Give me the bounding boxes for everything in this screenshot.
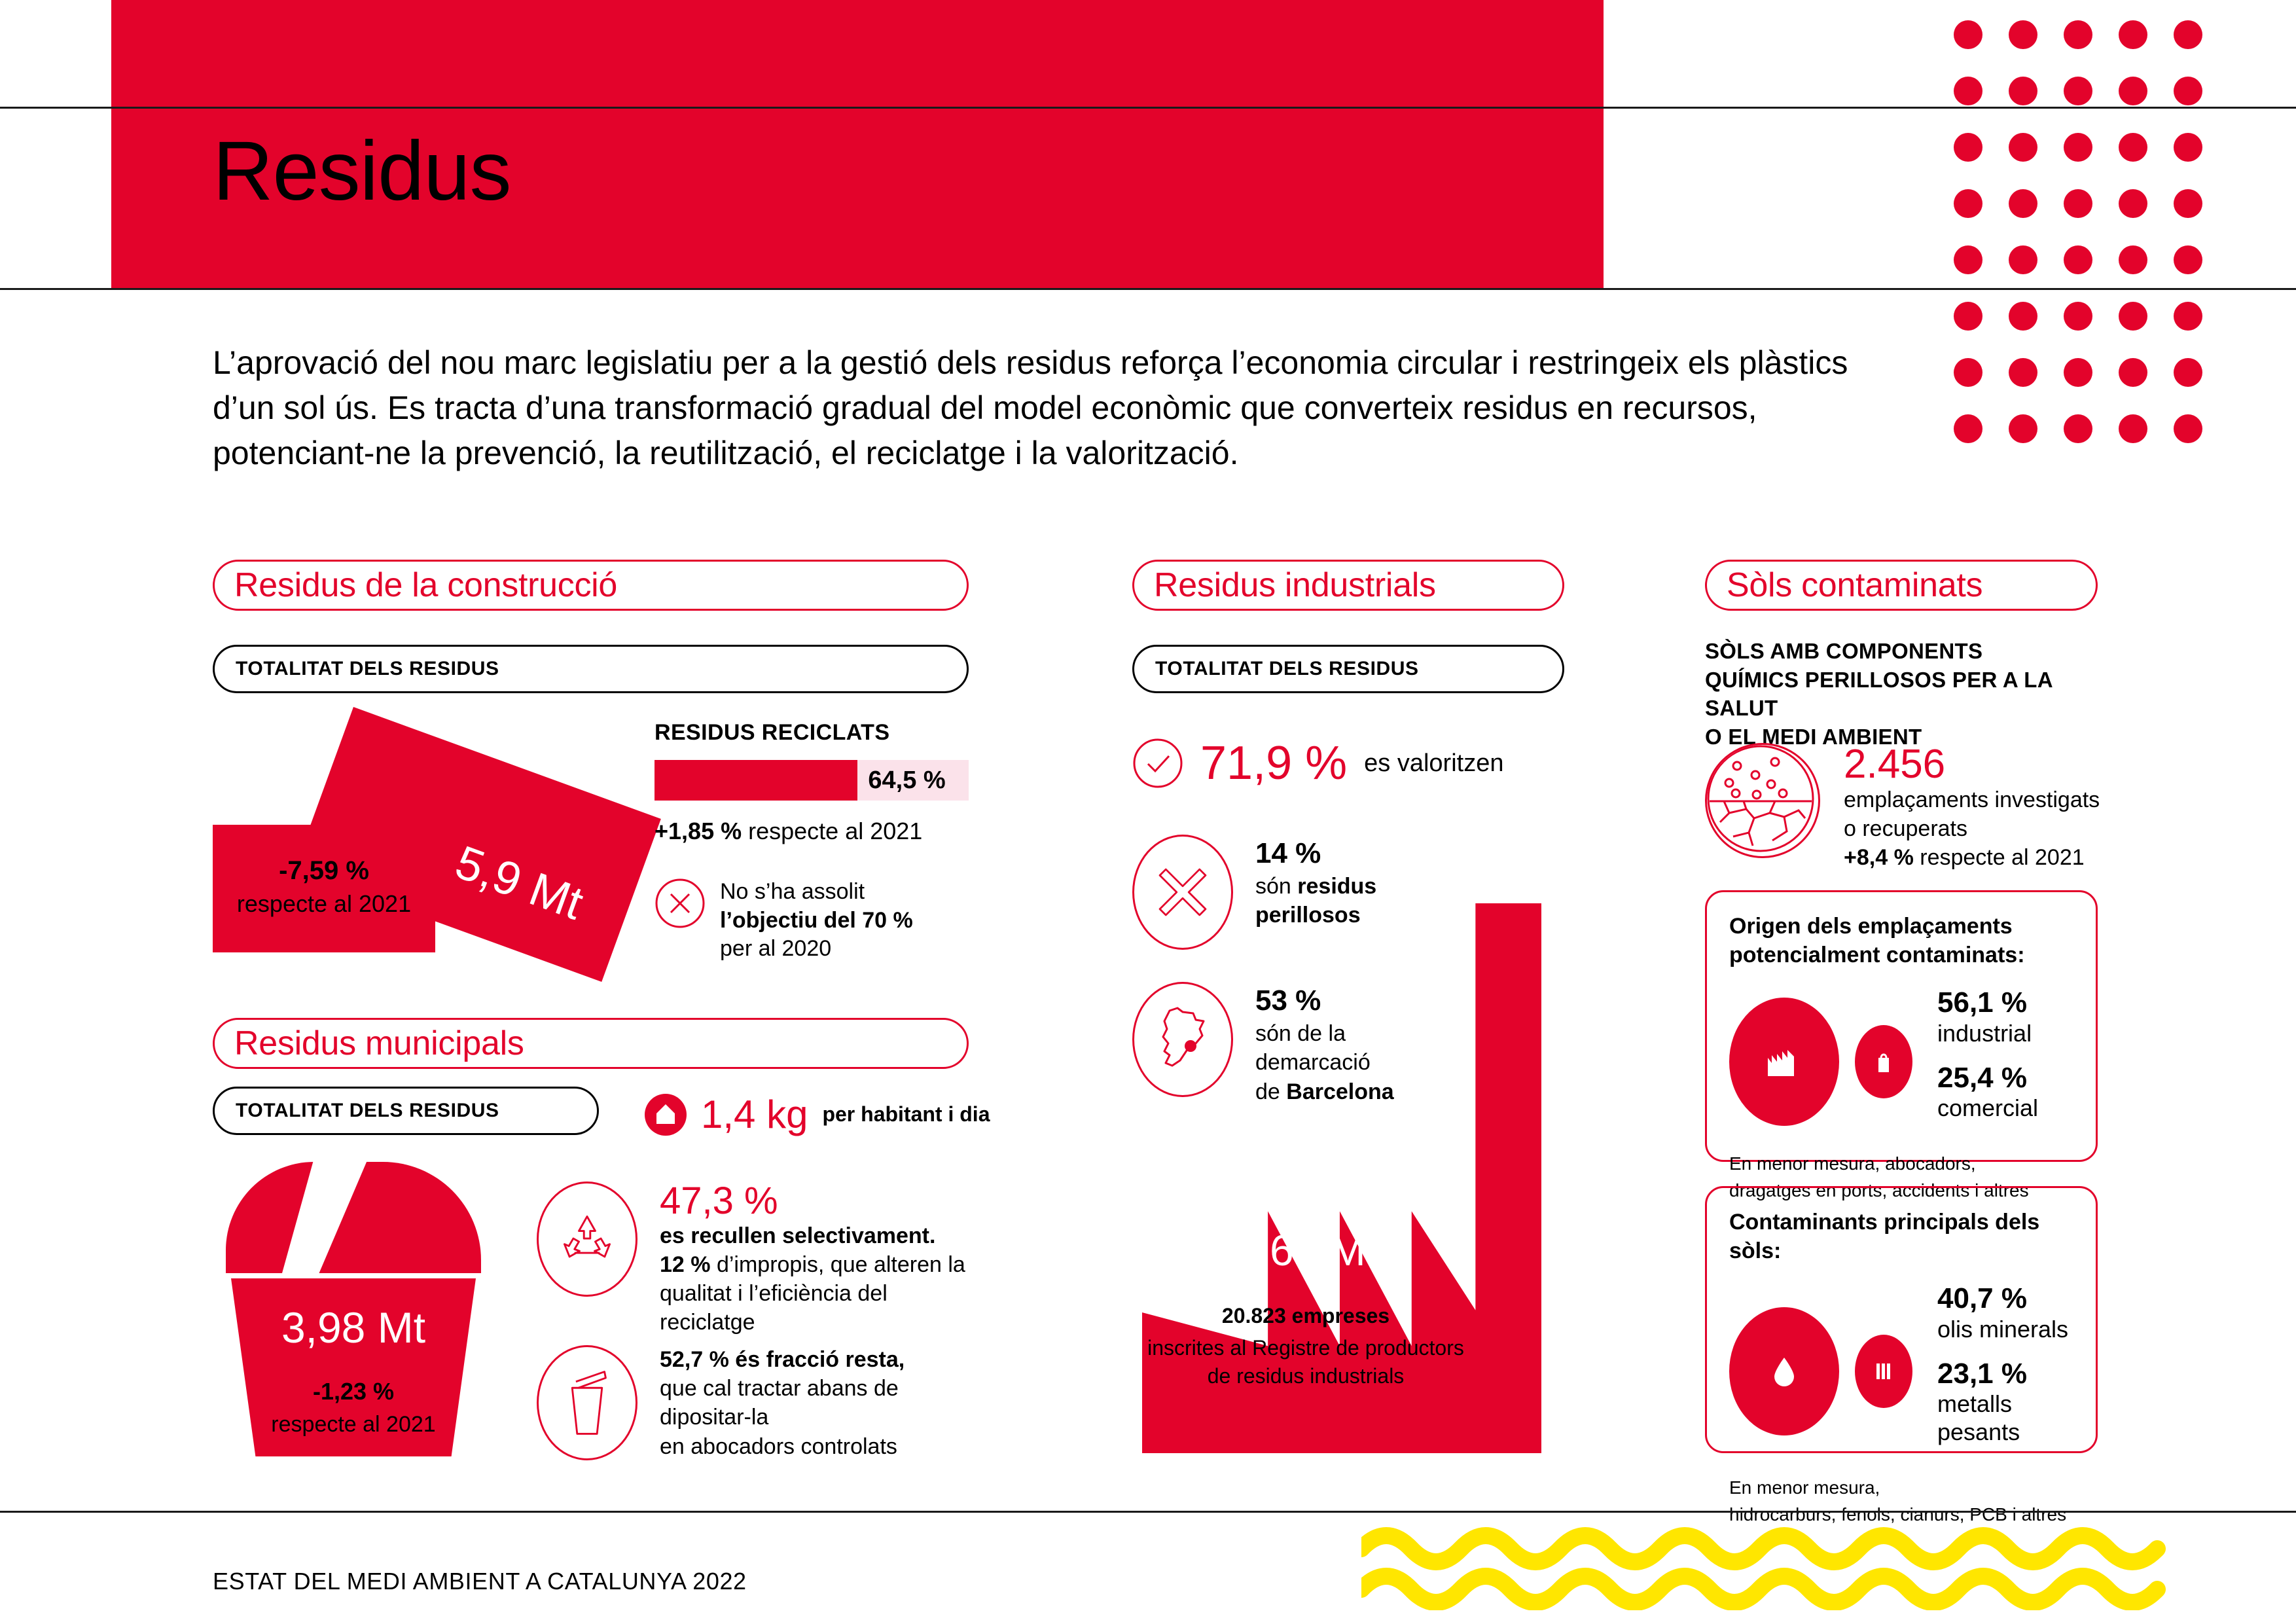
trash-glyph bbox=[556, 1367, 619, 1439]
sites-line-2: emplaçaments investigats bbox=[1844, 785, 2100, 814]
metal-bars-bubble-icon bbox=[1855, 1335, 1912, 1408]
grid-dot bbox=[2009, 245, 2037, 274]
recycled-bar-value: 64,5 % bbox=[868, 760, 945, 801]
impropis-rest: d’impropis, que alteren la bbox=[711, 1252, 965, 1277]
sites-delta-ref: respecte al 2021 bbox=[1914, 845, 2085, 870]
hazard-line2-bold: residus bbox=[1297, 874, 1376, 899]
section-header-industrial: Residus industrials bbox=[1132, 560, 1564, 611]
intro-paragraph: L’aprovació del nou marc legislatiu per … bbox=[213, 340, 1895, 476]
grid-dot bbox=[2064, 20, 2092, 49]
sites-line-3: o recuperats bbox=[1844, 814, 2100, 843]
soils-sites-text: 2.456 emplaçaments investigats o recuper… bbox=[1844, 743, 2100, 873]
grid-dot bbox=[2174, 302, 2202, 331]
trash-bin-icon bbox=[537, 1345, 637, 1460]
companies-line-2: inscrites al Registre de productors bbox=[1147, 1336, 1464, 1360]
grid-dot bbox=[2064, 302, 2092, 331]
recycled-delta-value: +1,85 % bbox=[655, 818, 742, 844]
grid-dot bbox=[2064, 77, 2092, 105]
factory-bubble-icon bbox=[1729, 998, 1839, 1126]
industrial-factory-graphic: 3,67 Mt 20.823 empreses inscrites al Reg… bbox=[1142, 903, 1541, 1453]
grid-dot bbox=[2064, 414, 2092, 443]
recycled-delta-ref: respecte al 2021 bbox=[742, 818, 922, 844]
rest-bold: 52,7 % és fracció resta, bbox=[660, 1347, 905, 1372]
grid-dot bbox=[2009, 189, 2037, 218]
footer-rule bbox=[0, 1511, 2296, 1513]
grid-dot bbox=[2064, 133, 2092, 162]
goal-line-1: No s’ha assolit bbox=[720, 878, 913, 907]
card-origin-values: 56,1 % industrial 25,4 % comercial bbox=[1937, 986, 2038, 1136]
companies-count: 20.823 empreses bbox=[1142, 1304, 1469, 1328]
footer-text: ESTAT DEL MEDI AMBIENT A CATALUNYA 2022 bbox=[213, 1568, 747, 1595]
metal-bars-icon bbox=[1873, 1361, 1894, 1382]
grid-dot bbox=[1954, 20, 1982, 49]
hazard-pct: 14 % bbox=[1255, 835, 1376, 872]
section-industrial: Residus industrials TOTALITAT DELS RESID… bbox=[1132, 560, 1564, 693]
card-contaminants-title: Contaminants principals dels sòls: bbox=[1729, 1208, 2073, 1265]
grid-dot bbox=[2009, 20, 2037, 49]
construction-delta-shape: -7,59 % respecte al 2021 bbox=[213, 825, 435, 952]
grid-dot bbox=[1954, 358, 1982, 387]
construction-total-value: 5,9 Mt bbox=[448, 835, 590, 930]
recycled-bar-track: 64,5 % bbox=[655, 760, 969, 801]
rest-line-3: en abocadors controlats bbox=[660, 1432, 969, 1461]
construction-total-graphic: 5,9 Mt -7,59 % respecte al 2021 bbox=[213, 710, 684, 946]
contaminant-unit-2: metalls pesants bbox=[1937, 1390, 2073, 1446]
grid-dot bbox=[1954, 77, 1982, 105]
section-municipal: Residus municipals bbox=[213, 1018, 969, 1069]
origin-value-2: 25,4 % bbox=[1937, 1062, 2038, 1094]
origin-value-1: 56,1 % bbox=[1937, 986, 2038, 1019]
selective-pct: 47,3 % bbox=[660, 1182, 969, 1221]
grid-dot bbox=[1954, 302, 1982, 331]
page-title: Residus bbox=[213, 128, 1260, 215]
wave-line-bottom bbox=[1361, 1576, 2157, 1602]
decorative-yellow-waves bbox=[1361, 1525, 2173, 1610]
municipal-total-value: 3,98 Mt bbox=[226, 1303, 481, 1352]
recycle-glyph bbox=[556, 1208, 619, 1271]
contaminant-unit-1: olis minerals bbox=[1937, 1315, 2073, 1343]
grid-dot bbox=[1954, 245, 1982, 274]
grid-dot bbox=[2119, 77, 2147, 105]
grid-dot bbox=[2009, 302, 2037, 331]
goal-line-3: per al 2020 bbox=[720, 935, 913, 964]
section-construction: Residus de la construcció TOTALITAT DELS… bbox=[213, 560, 969, 693]
card-main-contaminants: Contaminants principals dels sòls: 40,7 … bbox=[1705, 1186, 2098, 1453]
wave-line-top bbox=[1361, 1536, 2157, 1562]
soils-caption-line-1: SÒLS AMB COMPONENTS bbox=[1705, 637, 2098, 666]
grid-dot bbox=[1954, 189, 1982, 218]
rest-text: 52,7 % és fracció resta, que cal tractar… bbox=[660, 1345, 969, 1461]
label-total-waste-municipal: TOTALITAT DELS RESIDUS bbox=[213, 1087, 599, 1135]
municipal-delta-value: -1,23 % bbox=[226, 1378, 481, 1405]
label-total-waste-industrial: TOTALITAT DELS RESIDUS bbox=[1132, 645, 1564, 693]
contaminants-note-line-1: En menor mesura, bbox=[1729, 1475, 2073, 1502]
municipal-rest-fraction: 52,7 % és fracció resta, que cal tractar… bbox=[537, 1345, 969, 1461]
card-origin-row: 56,1 % industrial 25,4 % comercial bbox=[1729, 986, 2073, 1136]
goal-not-achieved: No s’ha assolit l’objectiu del 70 % per … bbox=[655, 878, 969, 964]
grid-dot bbox=[2119, 133, 2147, 162]
grid-dot bbox=[1954, 133, 1982, 162]
grid-dot bbox=[2009, 414, 2037, 443]
selective-bold: es recullen selectivament. bbox=[660, 1223, 935, 1248]
card-contaminants-row: 40,7 % olis minerals 23,1 % metalls pesa… bbox=[1729, 1282, 2073, 1460]
recycle-icon bbox=[537, 1182, 637, 1297]
card-origin-title: Origen dels emplaçaments potencialment c… bbox=[1729, 912, 2073, 969]
sites-number: 2.456 bbox=[1844, 743, 2100, 785]
soils-caption: SÒLS AMB COMPONENTS QUÍMICS PERILLOSOS P… bbox=[1705, 637, 2098, 751]
grid-dot bbox=[2174, 20, 2202, 49]
soils-sites-block: 2.456 emplaçaments investigats o recuper… bbox=[1705, 743, 2100, 873]
grid-dot bbox=[2119, 189, 2147, 218]
grid-dot bbox=[2119, 414, 2147, 443]
grid-dot bbox=[2064, 358, 2092, 387]
card-origin-contaminated-sites: Origen dels emplaçaments potencialment c… bbox=[1705, 890, 2098, 1162]
construction-delta-value: -7,59 % bbox=[213, 856, 435, 886]
grid-dot bbox=[2009, 133, 2037, 162]
card-contaminants-note: En menor mesura, hidrocarburs, fenols, c… bbox=[1729, 1475, 2073, 1528]
home-icon bbox=[645, 1094, 687, 1136]
header-rule-top bbox=[0, 107, 2296, 109]
card-contaminants-values: 40,7 % olis minerals 23,1 % metalls pesa… bbox=[1937, 1282, 2073, 1460]
section-header-municipal: Residus municipals bbox=[213, 1018, 969, 1069]
impropis-pct: 12 % bbox=[660, 1252, 711, 1277]
companies-desc: inscrites al Registre de productors de r… bbox=[1142, 1334, 1469, 1390]
grid-dot bbox=[2119, 245, 2147, 274]
cracked-soil-glyph bbox=[1707, 745, 1814, 852]
header-rule-bottom bbox=[0, 288, 2296, 290]
oil-drop-bubble-icon bbox=[1729, 1307, 1839, 1435]
grid-dot bbox=[2174, 358, 2202, 387]
grid-dot bbox=[1954, 414, 1982, 443]
industrial-valorised: 71,9 % es valoritzen bbox=[1132, 736, 1503, 790]
selective-text: 47,3 % es recullen selectivament. 12 % d… bbox=[660, 1182, 969, 1337]
grid-dot bbox=[2174, 77, 2202, 105]
rest-line-2: que cal tractar abans de dipositar-la bbox=[660, 1374, 969, 1432]
section-soils: Sòls contaminats SÒLS AMB COMPONENTS QUÍ… bbox=[1705, 560, 2098, 751]
valorised-label: es valoritzen bbox=[1364, 749, 1503, 778]
industrial-total-value: 3,67 Mt bbox=[1142, 1225, 1469, 1275]
origin-unit-2: comercial bbox=[1937, 1094, 2038, 1122]
cracked-soil-icon bbox=[1705, 743, 1820, 858]
grid-dot bbox=[2064, 245, 2092, 274]
per-capita-value: 1,4 kg bbox=[701, 1092, 808, 1137]
hazard-line2-rest: són bbox=[1255, 874, 1297, 899]
grid-dot bbox=[2009, 358, 2037, 387]
grid-dot bbox=[2119, 20, 2147, 49]
grid-dot bbox=[2064, 189, 2092, 218]
factory-icon bbox=[1765, 1046, 1803, 1077]
recycled-bar-fill bbox=[655, 760, 857, 801]
grid-dot bbox=[2119, 358, 2147, 387]
contaminant-value-2: 23,1 % bbox=[1937, 1358, 2073, 1390]
contaminants-note-line-2: hidrocarburs, fenols, cianurs, PCB i alt… bbox=[1729, 1502, 2073, 1528]
grid-dot bbox=[2119, 302, 2147, 331]
shop-bubble-icon bbox=[1855, 1025, 1912, 1098]
sites-delta-value: +8,4 % bbox=[1844, 845, 1914, 870]
goal-line-2: l’objectiu del 70 % bbox=[720, 908, 913, 933]
circle-x-icon bbox=[655, 878, 706, 929]
recycled-label: RESIDUS RECICLATS bbox=[655, 720, 969, 746]
shopping-bag-icon bbox=[1874, 1050, 1893, 1074]
municipal-selective-collection: 47,3 % es recullen selectivament. 12 % d… bbox=[537, 1182, 969, 1337]
grid-dot bbox=[2174, 133, 2202, 162]
municipal-per-capita: 1,4 kg per habitant i dia bbox=[645, 1092, 990, 1137]
goal-text: No s’ha assolit l’objectiu del 70 % per … bbox=[720, 878, 913, 964]
companies-line-3: de residus industrials bbox=[1208, 1364, 1405, 1388]
grid-dot bbox=[2174, 245, 2202, 274]
droplet-icon bbox=[1772, 1355, 1797, 1388]
valorised-pct: 71,9 % bbox=[1200, 736, 1347, 790]
municipal-delta-ref: respecte al 2021 bbox=[226, 1412, 481, 1437]
circle-check-icon bbox=[1132, 738, 1183, 789]
municipal-bin-graphic: 3,98 Mt -1,23 % respecte al 2021 bbox=[226, 1162, 481, 1456]
per-capita-unit: per habitant i dia bbox=[822, 1102, 990, 1127]
grid-dot bbox=[2174, 414, 2202, 443]
construction-delta-ref: respecte al 2021 bbox=[213, 890, 435, 918]
section-header-construction: Residus de la construcció bbox=[213, 560, 969, 611]
construction-recycled-block: RESIDUS RECICLATS 64,5 % +1,85 % respect… bbox=[655, 720, 969, 964]
contaminant-value-1: 40,7 % bbox=[1937, 1282, 2073, 1314]
grid-dot bbox=[2174, 189, 2202, 218]
selective-line-3: qualitat i l’eficiència del reciclatge bbox=[660, 1279, 969, 1337]
soils-caption-line-2: QUÍMICS PERILLOSOS PER A LA SALUT bbox=[1705, 666, 2098, 723]
grid-dot bbox=[2009, 77, 2037, 105]
decorative-dot-grid bbox=[1954, 7, 2229, 458]
origin-unit-1: industrial bbox=[1937, 1019, 2038, 1047]
section-header-soils: Sòls contaminats bbox=[1705, 560, 2098, 611]
label-total-waste-construction: TOTALITAT DELS RESIDUS bbox=[213, 645, 969, 693]
origin-note-line-1: En menor mesura, abocadors, bbox=[1729, 1151, 2073, 1178]
recycled-delta: +1,85 % respecte al 2021 bbox=[655, 818, 969, 845]
